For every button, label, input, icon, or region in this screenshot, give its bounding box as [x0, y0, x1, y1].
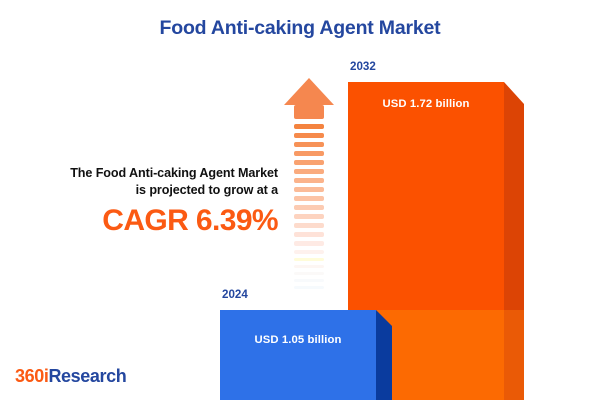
cagr-value: CAGR 6.39%	[14, 204, 278, 238]
bar-2032-front-upper	[348, 82, 504, 310]
bar-2024-front	[220, 310, 376, 400]
growth-arrow-icon	[283, 76, 335, 292]
brand-logo-name: Research	[48, 366, 126, 386]
brand-logo: 360iResearch	[15, 366, 126, 387]
bar-2032-side-lower	[504, 310, 524, 400]
brand-logo-mark: 360i	[15, 366, 48, 386]
growth-statement: The Food Anti-caking Agent Market is pro…	[14, 165, 278, 238]
page-title: Food Anti-caking Agent Market	[0, 17, 600, 40]
bar-label-2032: 2032	[350, 60, 376, 73]
statement-line-2: is projected to grow at a	[14, 182, 278, 199]
bar-2024: USD 1.05 billion	[220, 310, 392, 400]
bar-label-2024: 2024	[222, 288, 248, 301]
bar-2032-side-upper	[504, 82, 524, 310]
market-infographic: Food Anti-caking Agent Market The Food A…	[0, 0, 600, 400]
bar-2024-side	[376, 310, 392, 400]
bar-2032-value-label: USD 1.72 billion	[348, 98, 504, 110]
bar-2024-value-label: USD 1.05 billion	[220, 334, 376, 346]
statement-line-1: The Food Anti-caking Agent Market	[14, 165, 278, 182]
